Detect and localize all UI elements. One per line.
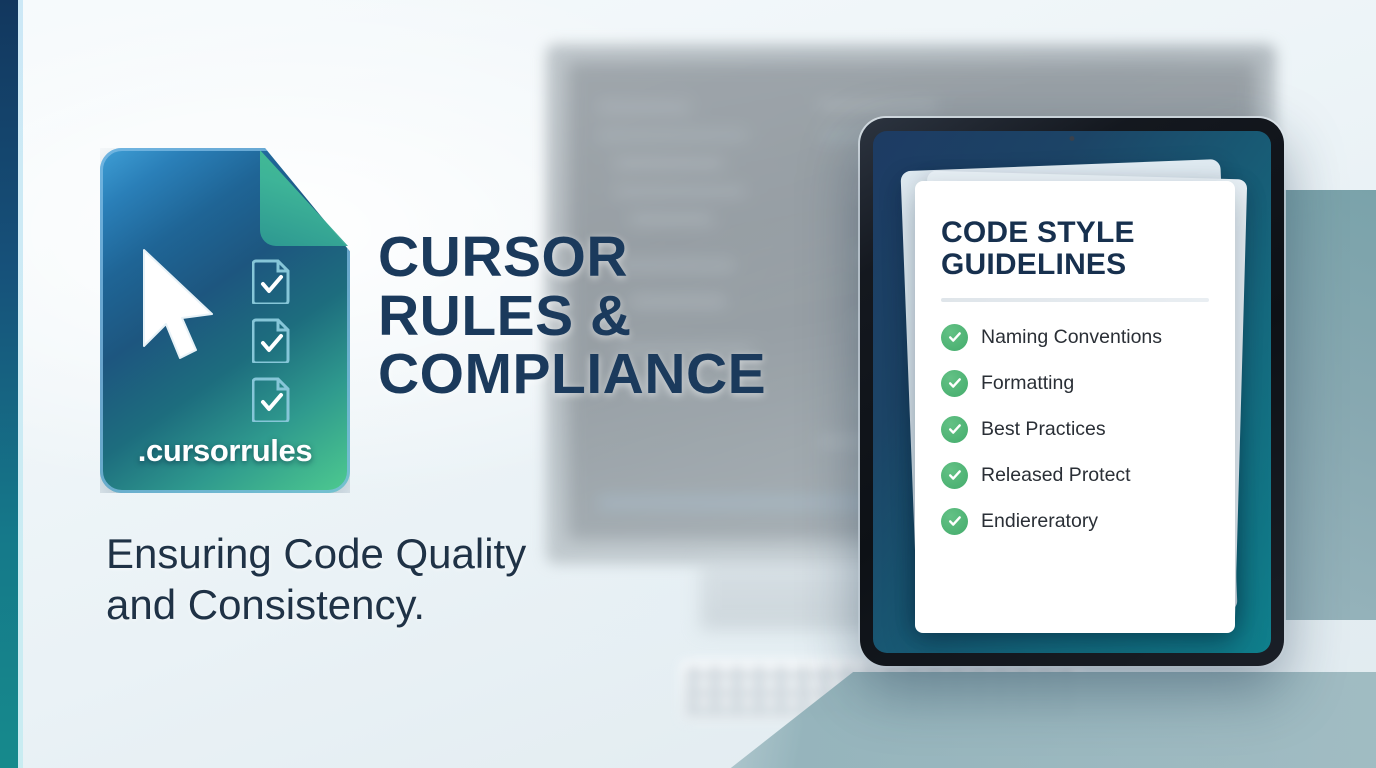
hero-banner: .cursorrules CURSOR RULES & COMPLIANCE E… [0,0,1376,768]
cursor-arrow-icon [138,246,230,364]
checklist-label: Best Practices [981,420,1106,440]
list-item: Endiereratory [941,508,1209,535]
camera-icon [1070,136,1075,141]
card-title-line-2: GUIDELINES [941,249,1209,281]
check-circle-icon [941,416,968,443]
subheadline-line-2: and Consistency. [106,579,626,630]
file-extension-label: .cursorrules [100,433,350,469]
cursorrules-file-icon: .cursorrules [100,148,350,493]
guidelines-checklist: Naming Conventions Formatting Best Pract… [941,324,1209,535]
document-check-icon [252,258,292,304]
page-subtitle: Ensuring Code Quality and Consistency. [106,528,626,630]
tablet-device: CODE STYLE GUIDELINES Naming Conventions [860,118,1284,666]
checklist-label: Released Protect [981,466,1131,486]
tablet-screen: CODE STYLE GUIDELINES Naming Conventions [873,131,1271,653]
card-title-line-1: CODE STYLE [941,217,1209,249]
monitor-stand [700,560,880,630]
headline-line-2: RULES & [378,287,848,346]
code-style-guidelines-card: CODE STYLE GUIDELINES Naming Conventions [915,181,1235,633]
document-check-icon [252,317,292,363]
left-accent-glow [18,0,23,768]
list-item: Naming Conventions [941,324,1209,351]
check-circle-icon [941,370,968,397]
checklist-label: Naming Conventions [981,328,1162,348]
list-item: Formatting [941,370,1209,397]
document-check-icon [252,376,292,422]
headline-line-1: CURSOR [378,228,848,287]
left-accent-bar [0,0,18,768]
checklist-label: Formatting [981,374,1074,394]
page-title: CURSOR RULES & COMPLIANCE [378,228,848,404]
list-item: Released Protect [941,462,1209,489]
title-divider [941,298,1209,302]
card-title: CODE STYLE GUIDELINES [941,217,1209,282]
headline-line-3: COMPLIANCE [378,345,848,404]
checklist-label: Endiereratory [981,512,1098,532]
document-check-icon-group [252,258,292,422]
check-circle-icon [941,324,968,351]
list-item: Best Practices [941,416,1209,443]
check-circle-icon [941,462,968,489]
check-circle-icon [941,508,968,535]
subheadline-line-1: Ensuring Code Quality [106,528,626,579]
